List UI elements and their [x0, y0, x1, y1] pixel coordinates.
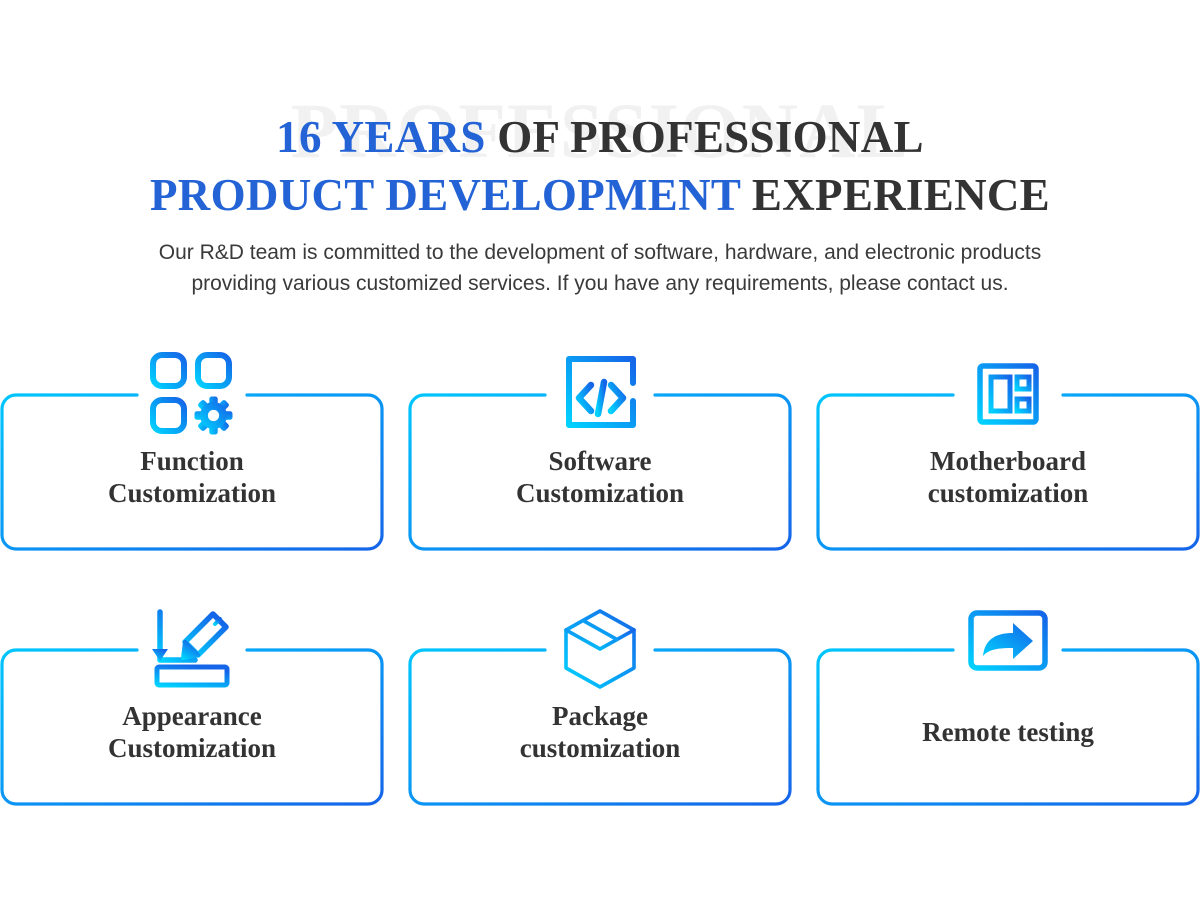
title-rest-2: EXPERIENCE: [740, 170, 1050, 220]
card-label: Software Customization: [408, 393, 792, 551]
card-label: Appearance Customization: [0, 648, 384, 806]
card-label: Function Customization: [0, 393, 384, 551]
card-label-line-1: Function: [140, 445, 244, 477]
card-remote-testing[interactable]: Remote testing: [816, 648, 1200, 806]
card-label-line-1: Motherboard: [930, 445, 1086, 477]
card-row-2: Appearance Customization: [0, 600, 1200, 855]
card-software-customization[interactable]: Software Customization: [408, 393, 792, 551]
title-accent-2: PRODUCT DEVELOPMENT: [150, 170, 740, 220]
card-label-line-1: Remote testing: [922, 716, 1094, 748]
subtitle-line-1: Our R&D team is committed to the develop…: [0, 237, 1200, 268]
card-label: Remote testing: [816, 648, 1200, 806]
title-rest-1: OF PROFESSIONAL: [486, 112, 924, 162]
page-subtitle: Our R&D team is committed to the develop…: [0, 237, 1200, 299]
card-label: Motherboard customization: [816, 393, 1200, 551]
page-title: 16 YEARS OF PROFESSIONAL PRODUCT DEVELOP…: [0, 108, 1200, 224]
title-line-1: 16 YEARS OF PROFESSIONAL: [0, 108, 1200, 166]
card-row-1: Function Customization Software Cu: [0, 345, 1200, 600]
card-label-line-2: customization: [928, 477, 1088, 509]
card-label-line-2: Customization: [108, 732, 276, 764]
card-label-line-2: Customization: [108, 477, 276, 509]
card-label-line-2: Customization: [516, 477, 684, 509]
title-accent-1: 16 YEARS: [276, 112, 486, 162]
card-label-line-1: Software: [549, 445, 652, 477]
card-label-line-1: Package: [552, 700, 648, 732]
page-header: PROFESSIONAL 16 YEARS OF PROFESSIONAL PR…: [0, 0, 1200, 320]
card-package-customization[interactable]: Package customization: [408, 648, 792, 806]
card-label-line-1: Appearance: [122, 700, 261, 732]
service-card-grid: Function Customization Software Cu: [0, 345, 1200, 855]
title-line-2: PRODUCT DEVELOPMENT EXPERIENCE: [0, 166, 1200, 224]
card-label: Package customization: [408, 648, 792, 806]
card-motherboard-customization[interactable]: Motherboard customization: [816, 393, 1200, 551]
card-function-customization[interactable]: Function Customization: [0, 393, 384, 551]
card-label-line-2: customization: [520, 732, 680, 764]
card-appearance-customization[interactable]: Appearance Customization: [0, 648, 384, 806]
subtitle-line-2: providing various customized services. I…: [0, 268, 1200, 299]
